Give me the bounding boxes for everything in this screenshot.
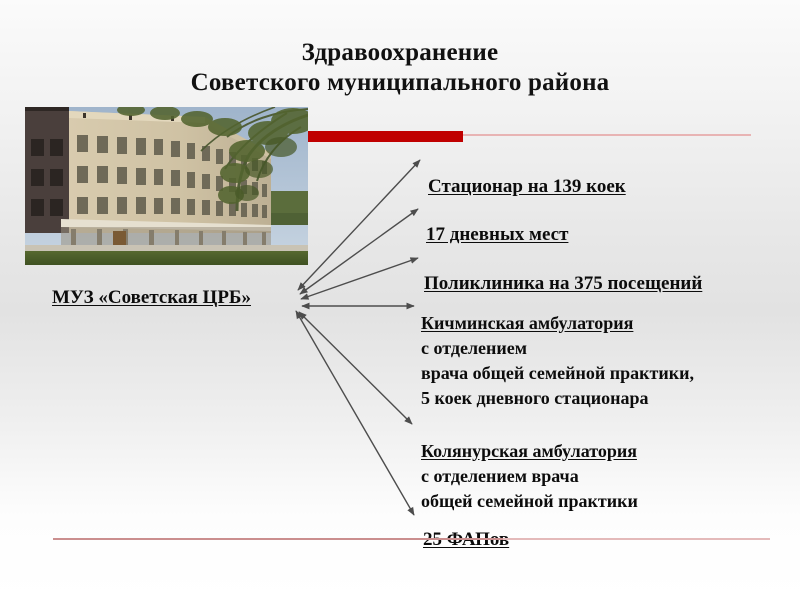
red-accent-hairline bbox=[463, 134, 751, 136]
bottom-rule-left bbox=[53, 538, 503, 540]
arrow-to-fapov bbox=[296, 311, 414, 515]
item-stacionar-head: Стационар на 139 коек bbox=[428, 175, 626, 198]
arrow-to-dnevnyh bbox=[300, 209, 418, 294]
hospital-building-photo bbox=[25, 107, 308, 265]
item-kichminskaya-head: Кичминская амбулатория bbox=[421, 311, 633, 336]
item-dnevnyh-mest-head: 17 дневных мест bbox=[426, 223, 568, 246]
red-accent-bar bbox=[308, 131, 463, 142]
page-title: Здравоохранение Советского муниципальног… bbox=[0, 38, 800, 98]
slide-canvas: Здравоохранение Советского муниципальног… bbox=[0, 0, 800, 600]
arrow-to-poliklinika bbox=[301, 258, 418, 299]
item-fapov: 25 ФАПов bbox=[423, 505, 509, 551]
bottom-rule-right bbox=[503, 538, 770, 540]
item-kichminskaya-body: с отделением врача общей семейной практи… bbox=[421, 336, 694, 411]
node-label-muz-sovetskaya-crb: МУЗ «Советская ЦРБ» bbox=[52, 286, 251, 309]
item-dnevnyh-mest: 17 дневных мест bbox=[426, 200, 568, 246]
arrow-to-stacionar bbox=[298, 160, 420, 290]
item-kolyanurskaya-head: Колянурская амбулатория bbox=[421, 439, 637, 464]
arrow-to-kolyanurskaya bbox=[299, 312, 412, 424]
item-stacionar: Стационар на 139 коек bbox=[428, 152, 626, 198]
